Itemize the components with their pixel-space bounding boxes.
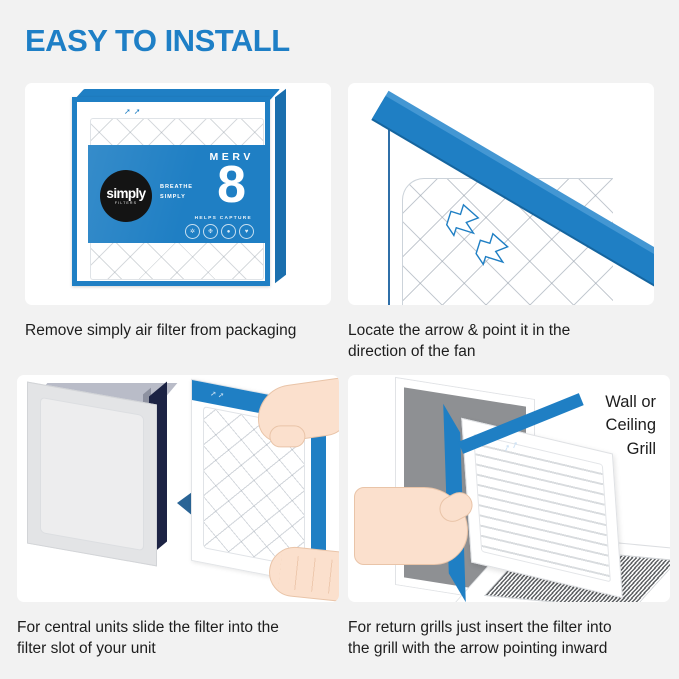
infographic-page: EASY TO INSTALL ➚➚ simply: [0, 0, 679, 679]
step-3-caption-line-2: filter slot of your unit: [17, 638, 339, 659]
airflow-arrow-marks: ➚➚: [124, 108, 143, 116]
pollen-icon: ❉: [203, 224, 218, 239]
fingers-lower: [278, 554, 339, 595]
filter-edge-scene: [348, 83, 654, 305]
step-3-illustration: ➚➚: [17, 375, 339, 602]
filter-arrow-mark: ➚➚: [210, 388, 225, 400]
dust-icon: ✲: [185, 224, 200, 239]
arrow-1-icon: [444, 202, 480, 241]
box-window: ➚➚ simply FILTERS BREATHE SIMPLY: [80, 105, 262, 278]
tagline-line-1: BREATHE: [160, 183, 193, 193]
step-3-caption: For central units slide the filter into …: [17, 617, 339, 660]
step-1: ➚➚ simply FILTERS BREATHE SIMPLY: [25, 83, 331, 341]
filter-left-edge: [388, 101, 390, 305]
merv-value: 8: [217, 159, 246, 211]
step-1-caption: Remove simply air filter from packaging: [25, 320, 331, 341]
step-4-caption-line-2: the grill with the arrow pointing inward: [348, 638, 670, 659]
box-side-face: [275, 89, 286, 284]
tagline: BREATHE SIMPLY: [160, 183, 193, 202]
hand-lower: [267, 544, 339, 602]
step-4-caption: For return grills just insert the filter…: [348, 617, 670, 660]
thumb-upper: [269, 425, 305, 447]
unit-front-panel: [40, 397, 144, 551]
brand-logo: simply FILTERS: [100, 170, 152, 222]
brand-subtitle: FILTERS: [115, 201, 137, 205]
unit-front-face: [27, 382, 157, 567]
step-4-caption-line-1: For return grills just insert the filter…: [348, 617, 670, 638]
step-1-illustration: ➚➚ simply FILTERS BREATHE SIMPLY: [25, 83, 331, 305]
tagline-line-2: SIMPLY: [160, 193, 193, 203]
step-2-caption: Locate the arrow & point it in the direc…: [348, 320, 654, 363]
hand-inserting: [354, 487, 468, 565]
wall-ceiling-grill-label: Wall or Ceiling Grill: [605, 391, 656, 461]
filter-package-box: ➚➚ simply FILTERS BREATHE SIMPLY: [69, 87, 289, 292]
central-unit-scene: ➚➚: [17, 375, 339, 602]
box-front-face: ➚➚ simply FILTERS BREATHE SIMPLY: [72, 97, 270, 286]
grill-label-line-2: Ceiling: [605, 414, 656, 437]
package-label-band: simply FILTERS BREATHE SIMPLY MERV 8 HEL…: [88, 145, 268, 243]
pet-dander-icon: ♥: [239, 224, 254, 239]
step-4: ➚➚ Wall or Ceiling Grill For return gril…: [348, 375, 670, 660]
grill-label-line-1: Wall or: [605, 391, 656, 414]
step-4-illustration: ➚➚ Wall or Ceiling Grill: [348, 375, 670, 602]
brand-name: simply: [106, 187, 145, 201]
step-2-illustration: [348, 83, 654, 305]
mold-icon: ●: [221, 224, 236, 239]
hand-upper: [254, 377, 339, 445]
step-2: Locate the arrow & point it in the direc…: [348, 83, 654, 363]
steps-grid: ➚➚ simply FILTERS BREATHE SIMPLY: [0, 78, 679, 679]
step-3-caption-line-1: For central units slide the filter into …: [17, 617, 339, 638]
step-2-caption-line-2: direction of the fan: [348, 341, 654, 362]
step-2-caption-line-1: Locate the arrow & point it in the: [348, 320, 654, 341]
return-grill-scene: ➚➚ Wall or Ceiling Grill: [348, 375, 670, 602]
helps-capture-label: HELPS CAPTURE: [195, 216, 252, 221]
arrow-2-icon: [474, 231, 510, 270]
step-3: ➚➚ For central units slide the filter in…: [17, 375, 339, 660]
grill-louvers: [473, 434, 611, 583]
capture-icon-row: ✲ ❉ ● ♥: [185, 224, 254, 239]
grill-label-line-3: Grill: [605, 438, 656, 461]
page-title: EASY TO INSTALL: [25, 25, 290, 56]
